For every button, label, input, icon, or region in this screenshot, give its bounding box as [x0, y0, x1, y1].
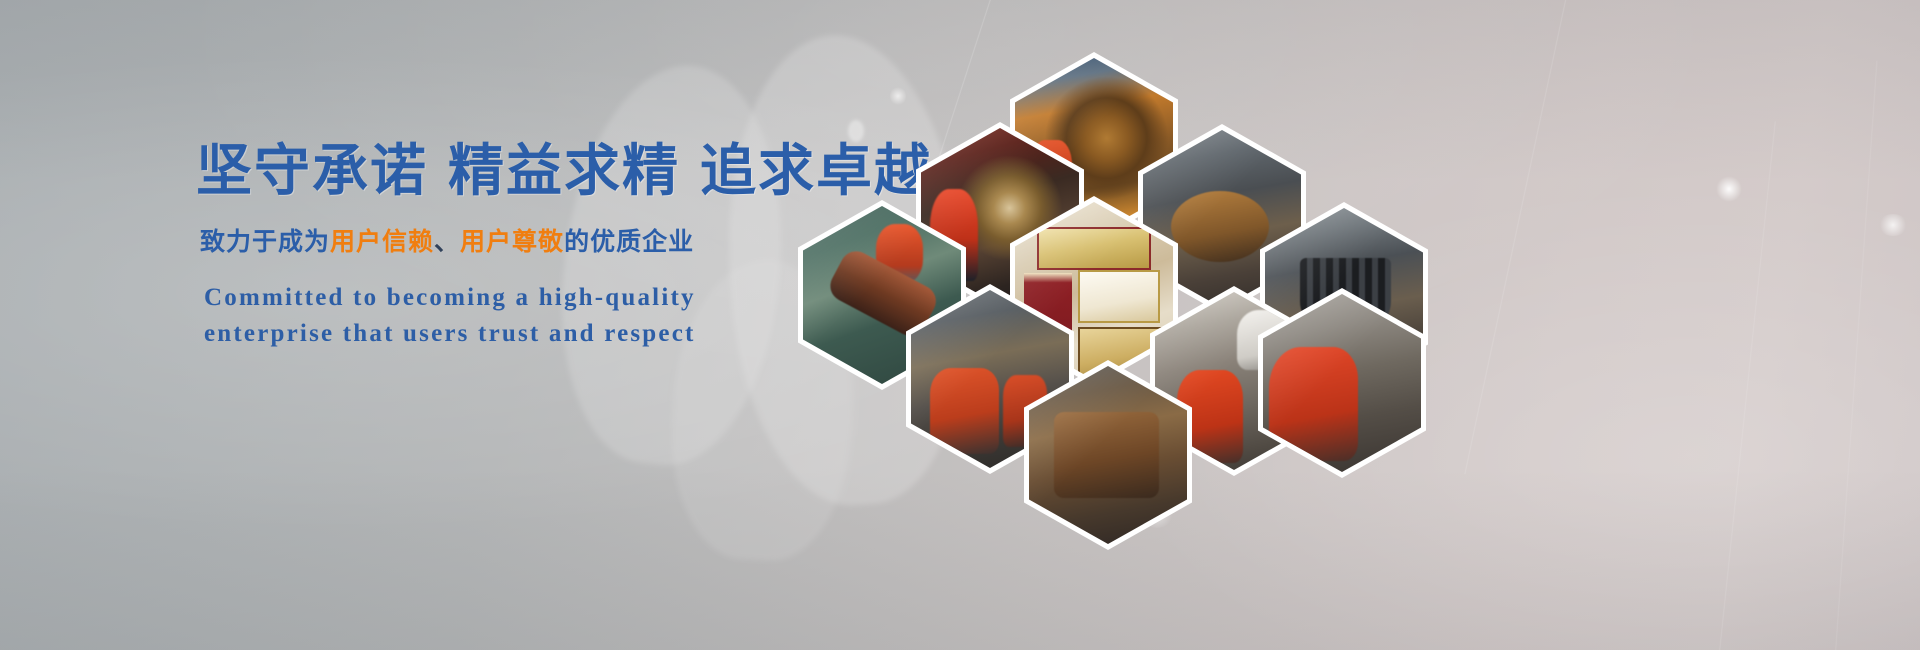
certificate-gold-plaque: [1037, 227, 1151, 270]
subline-highlight-trust: 用户信赖: [330, 228, 434, 256]
hex-photo-frame: [1263, 294, 1421, 472]
subline-prefix: 致力于成为: [200, 228, 330, 256]
headline-segment-2: 精益求精: [448, 139, 680, 202]
photo-red-suit-technician: [1263, 294, 1421, 472]
hexagon-photo-collage: [770, 40, 1430, 510]
headline-segment-1: 坚守承诺: [196, 139, 428, 202]
photo-cast-housing: [1029, 366, 1187, 544]
hero-banner: 坚守承诺精益求精追求卓越 致力于成为用户信赖、用户尊敬的优质企业 Committ…: [0, 0, 1920, 650]
hex-photo-frame: [1029, 366, 1187, 544]
subline-suffix: 的优质企业: [564, 228, 694, 256]
certificate-framed-white: [1078, 270, 1160, 323]
subline-separator: 、: [434, 228, 460, 256]
subline-highlight-respect: 用户尊敬: [460, 228, 564, 256]
